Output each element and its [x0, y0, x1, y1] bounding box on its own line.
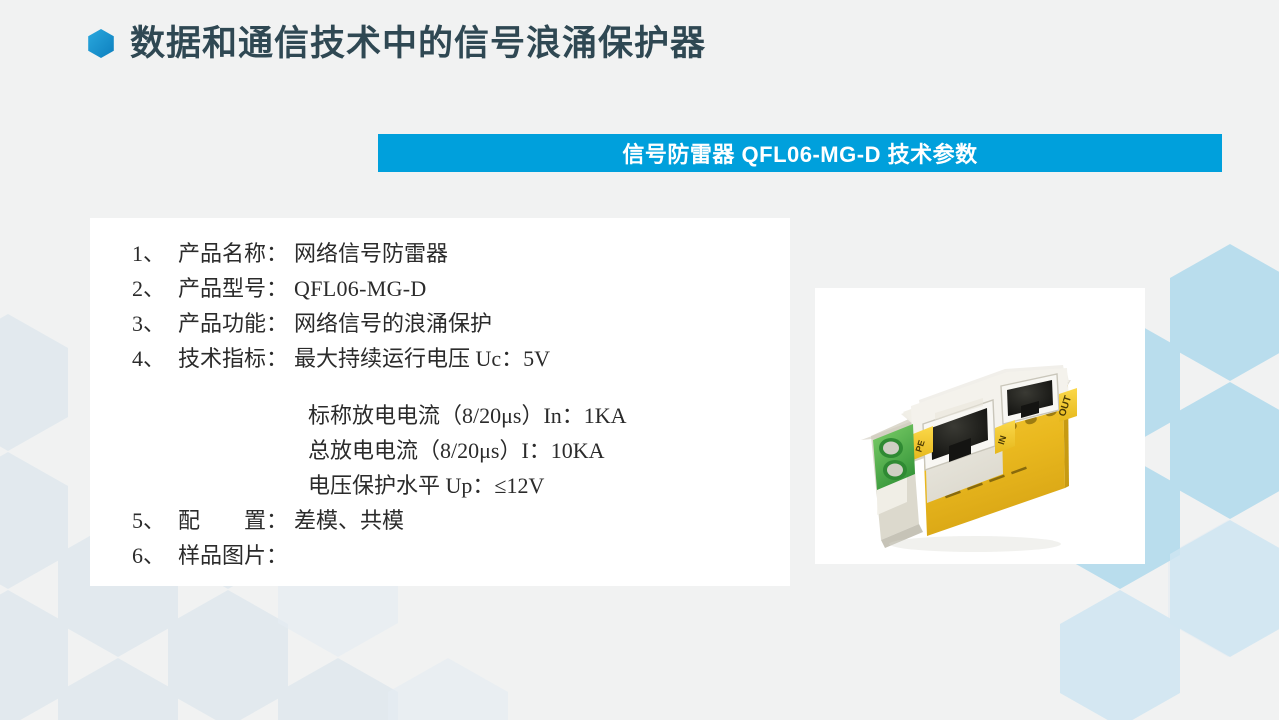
spec-line: 4、 技术指标： 最大持续运行电压 Uc：5V [132, 341, 780, 376]
spec-line: 6、 样品图片： [132, 538, 780, 573]
spec-line: 2、 产品型号： QFL06-MG-D [132, 271, 780, 306]
spec-number: 4、 [132, 341, 178, 376]
page-title: 数据和通信技术中的信号浪涌保护器 [130, 26, 706, 61]
spec-line: 5、 配 置： 差模、共模 [132, 503, 780, 538]
product-photo-card: IN OUT PE [815, 288, 1145, 564]
spec-value: 标称放电电流（8/20μs）In：1KA [302, 398, 627, 433]
spec-line-sub: 总放电电流（8/20μs）I：10KA [132, 433, 780, 468]
spec-value-model: QFL06-MG-D [288, 271, 427, 306]
spec-number: 2、 [132, 271, 178, 306]
spec-value: 差模、共模 [288, 503, 404, 538]
spec-value: 网络信号的浪涌保护 [288, 306, 492, 341]
specifications-list: 1、 产品名称： 网络信号防雷器 2、 产品型号： QFL06-MG-D 3、 … [132, 236, 780, 573]
section-banner: 信号防雷器 QFL06-MG-D 技术参数 [378, 134, 1222, 172]
slide-root: 数据和通信技术中的信号浪涌保护器 信号防雷器 QFL06-MG-D 技术参数 1… [0, 0, 1279, 720]
spec-key: 配 置： [178, 503, 288, 538]
spec-line: 3、 产品功能： 网络信号的浪涌保护 [132, 306, 780, 341]
spec-key: 产品功能： [178, 306, 288, 341]
spec-number: 6、 [132, 538, 178, 573]
spec-line-sub: 标称放电电流（8/20μs）In：1KA [132, 398, 780, 433]
spec-value: 总放电电流（8/20μs）I：10KA [302, 433, 605, 468]
section-banner-text: 信号防雷器 QFL06-MG-D 技术参数 [622, 137, 977, 169]
spec-value: 最大持续运行电压 Uc：5V [288, 341, 550, 376]
spec-number: 3、 [132, 306, 178, 341]
spec-number: 1、 [132, 236, 178, 271]
specifications-card: 1、 产品名称： 网络信号防雷器 2、 产品型号： QFL06-MG-D 3、 … [90, 218, 790, 586]
hexagon-icon [88, 29, 114, 58]
page-title-row: 数据和通信技术中的信号浪涌保护器 [88, 26, 706, 61]
product-photo: IN OUT PE [815, 288, 1145, 564]
spec-value: 电压保护水平 Up：≤12V [302, 468, 544, 503]
spec-line: 1、 产品名称： 网络信号防雷器 [132, 236, 780, 271]
spacer [132, 376, 780, 398]
spec-key: 样品图片： [178, 538, 288, 573]
spec-key: 技术指标： [178, 341, 288, 376]
spec-value: 网络信号防雷器 [288, 236, 448, 271]
spec-key: 产品名称： [178, 236, 288, 271]
spec-number: 5、 [132, 503, 178, 538]
spec-line-sub: 电压保护水平 Up：≤12V [132, 468, 780, 503]
spec-key: 产品型号： [178, 271, 288, 306]
